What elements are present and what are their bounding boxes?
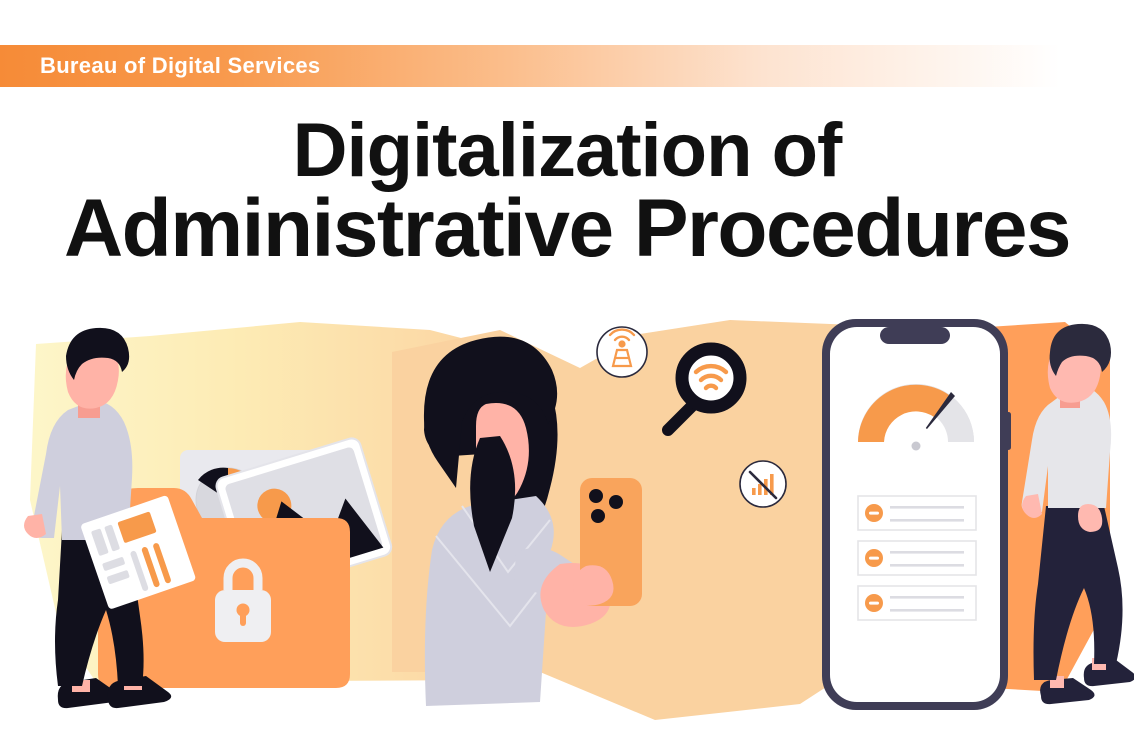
phone-camera-lens <box>609 495 623 509</box>
row-line <box>890 506 964 509</box>
poster-canvas: Bureau of Digital Services Digitalizatio… <box>0 0 1134 756</box>
row-line <box>890 564 964 567</box>
man-hand <box>24 514 46 538</box>
list-row[interactable] <box>858 586 976 620</box>
list-row[interactable] <box>858 541 976 575</box>
page-title: Digitalization of Administrative Procedu… <box>0 112 1134 268</box>
phone-camera-lens <box>589 489 603 503</box>
hero-illustration <box>0 300 1134 756</box>
phone-side-button <box>1006 412 1011 450</box>
page-title-line-1: Digitalization of <box>0 112 1134 190</box>
row-line <box>890 596 964 599</box>
list-row[interactable] <box>858 496 976 530</box>
phone-camera-lens <box>591 509 605 523</box>
row-line <box>890 551 964 554</box>
broadcast-tower-icon[interactable] <box>597 327 647 377</box>
row-line <box>890 609 964 612</box>
phone-notch <box>880 327 950 344</box>
no-signal-icon[interactable] <box>740 461 786 507</box>
gauge-hub <box>912 442 921 451</box>
organization-label: Bureau of Digital Services <box>40 50 320 82</box>
row-line <box>890 519 964 522</box>
phone-mockup <box>822 319 1011 710</box>
page-title-line-2: Administrative Procedures <box>0 190 1134 268</box>
